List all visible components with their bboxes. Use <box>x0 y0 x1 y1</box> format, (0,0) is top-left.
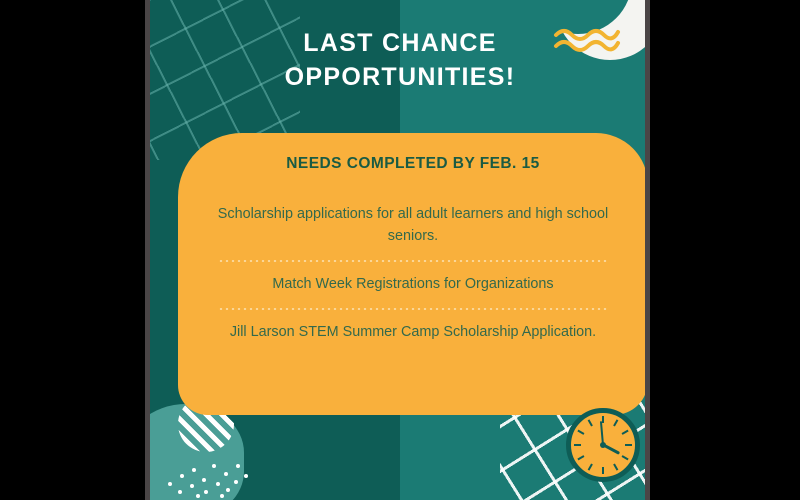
poster-image: LAST CHANCE OPPORTUNITIES! NEEDS COMPLET… <box>150 0 650 500</box>
list-item: Jill Larson STEM Summer Camp Scholarship… <box>212 317 614 349</box>
dot-cluster-icon <box>164 456 256 498</box>
letterbox-edge-right <box>645 0 650 500</box>
letterbox-bar-left <box>0 0 145 500</box>
card-title: NEEDS COMPLETED BY FEB. 15 <box>212 155 614 173</box>
card-item-list: Scholarship applications for all adult l… <box>212 199 614 349</box>
headline-line-1: LAST CHANCE <box>303 29 496 57</box>
list-item: Match Week Registrations for Organizatio… <box>212 269 614 301</box>
letterbox-bar-right <box>650 0 800 500</box>
screenshot-viewport: LAST CHANCE OPPORTUNITIES! NEEDS COMPLET… <box>0 0 800 500</box>
list-divider <box>218 260 608 262</box>
letterbox-edge-left <box>145 0 150 500</box>
headline-line-2: OPPORTUNITIES! <box>150 60 650 94</box>
list-item: Scholarship applications for all adult l… <box>212 199 614 253</box>
deadline-card: NEEDS COMPLETED BY FEB. 15 Scholarship a… <box>178 133 648 415</box>
list-divider <box>218 308 608 310</box>
clock-center-pin <box>600 442 606 448</box>
clock-icon <box>566 408 640 482</box>
poster-headline: LAST CHANCE OPPORTUNITIES! <box>150 26 650 94</box>
